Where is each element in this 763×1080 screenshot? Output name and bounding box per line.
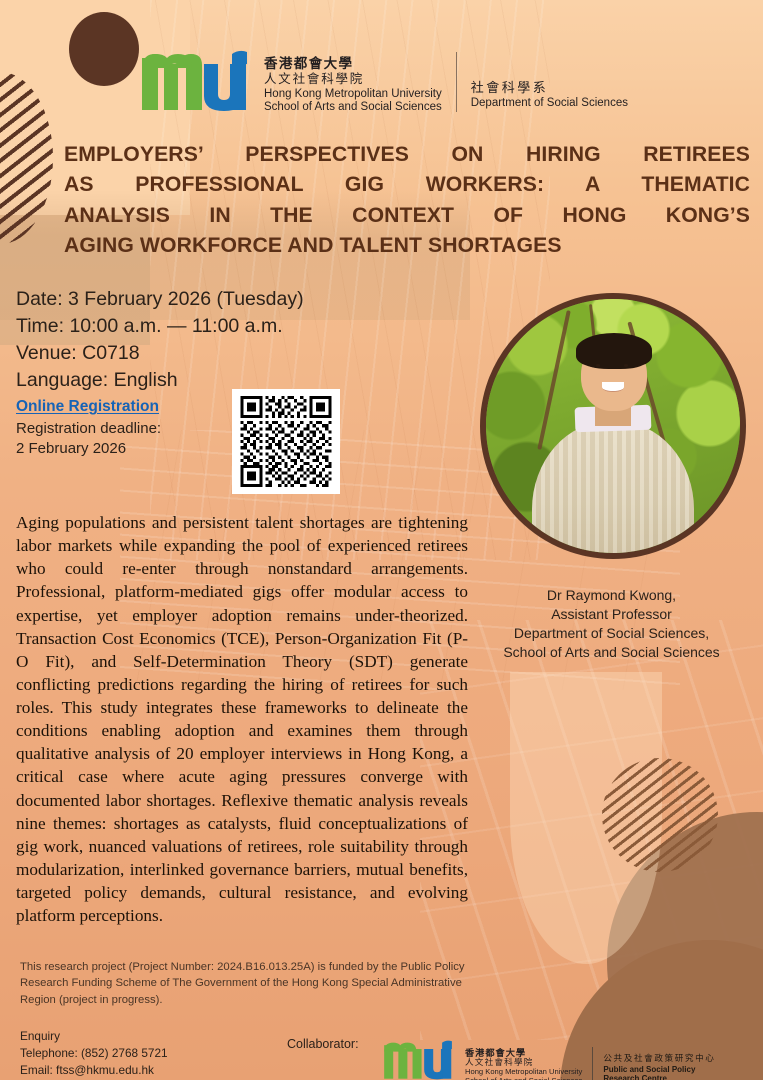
funding-note: This research project (Project Number: 2… [20,959,470,1008]
mu-logo [140,50,252,112]
research-centre-cn: 公共及社會政策研究中心 [603,1053,715,1063]
poster-title: EMPLOYERS’ PERSPECTIVES ON HIRING RETIRE… [64,140,750,261]
portrait-hair [576,333,652,367]
mu-logo-footer [382,1040,456,1080]
enquiry-telephone: Telephone: (852) 2768 5721 [20,1045,168,1062]
title-line-2: AS PROFESSIONAL GIG WORKERS: A THEMATIC [64,170,750,200]
enquiry-email[interactable]: Email: ftss@hkmu.edu.hk [20,1062,168,1079]
online-registration-link[interactable]: Online Registration [16,398,159,416]
research-centre-en-line2: Research Centre [603,1074,715,1080]
department-cn: 社會科學系 [471,80,628,96]
decor-striped-circle-bottom-right [602,758,718,872]
registration-block: Online Registration Registration deadlin… [16,398,226,458]
qr-code[interactable] [232,389,340,494]
speaker-portrait [480,293,746,559]
brand-cn-line2: 人文社會科學院 [264,72,442,86]
header-brand-text: 香港都會大學 人文社會科學院 Hong Kong Metropolitan Un… [264,56,442,114]
footer-brand-text: 香港都會大學 人文社會科學院 Hong Kong Metropolitan Un… [465,1048,582,1080]
event-time: Time: 10:00 a.m. — 11:00 a.m. [16,313,436,340]
speaker-rank: Assistant Professor [460,605,763,624]
poster-footer: Enquiry Telephone: (852) 2768 5721 Email… [0,1012,763,1080]
portrait-smile [602,382,625,392]
brand-en-line1: Hong Kong Metropolitan University [264,88,442,101]
poster-header: 香港都會大學 人文社會科學院 Hong Kong Metropolitan Un… [0,0,763,130]
decor-u-shape [510,672,662,964]
speaker-name: Dr Raymond Kwong, [460,586,763,605]
speaker-school: School of Arts and Social Sciences [460,643,763,662]
footer-research-centre: 公共及社會政策研究中心 Public and Social Policy Res… [603,1053,715,1080]
event-details: Date: 3 February 2026 (Tuesday) Time: 10… [16,286,436,394]
footer-divider [592,1047,593,1080]
enquiry-block: Enquiry Telephone: (852) 2768 5721 Email… [20,1028,168,1078]
footer-logo-row: 香港都會大學 人文社會科學院 Hong Kong Metropolitan Un… [382,1040,716,1080]
brand-en-line2: School of Arts and Social Sciences [264,101,442,114]
seminar-poster: 香港都會大學 人文社會科學院 Hong Kong Metropolitan Un… [0,0,763,1080]
footer-brand-cn-line2: 人文社會科學院 [465,1058,582,1067]
research-centre-en-line1: Public and Social Policy [603,1065,715,1075]
footer-brand-en-line2: School of Arts and Social Sciences [465,1077,582,1080]
brand-cn-line1: 香港都會大學 [264,56,442,71]
department-en: Department of Social Sciences [471,97,628,111]
event-language: Language: English [16,367,436,394]
speaker-info: Dr Raymond Kwong, Assistant Professor De… [460,586,763,662]
speaker-portrait-image [486,299,740,553]
registration-deadline: Registration deadline: 2 February 2026 [16,419,226,458]
event-venue: Venue: C0718 [16,340,436,367]
registration-deadline-date: 2 February 2026 [16,439,226,459]
title-line-1: EMPLOYERS’ PERSPECTIVES ON HIRING RETIRE… [64,140,750,170]
collaborator-label: Collaborator: [287,1037,359,1051]
header-department: 社會科學系 Department of Social Sciences [471,80,628,111]
abstract-text: Aging populations and persistent talent … [16,511,468,927]
title-line-3: ANALYSIS IN THE CONTEXT OF HONG KONG’S [64,201,750,231]
speaker-department: Department of Social Sciences, [460,624,763,643]
header-logo-row: 香港都會大學 人文社會科學院 Hong Kong Metropolitan Un… [140,50,628,112]
enquiry-label: Enquiry [20,1028,168,1045]
title-line-4: AGING WORKFORCE AND TALENT SHORTAGES [64,231,750,261]
background-grid-texture [420,620,763,1040]
header-divider [456,52,457,112]
registration-deadline-label: Registration deadline: [16,419,226,439]
event-date: Date: 3 February 2026 (Tuesday) [16,286,436,313]
